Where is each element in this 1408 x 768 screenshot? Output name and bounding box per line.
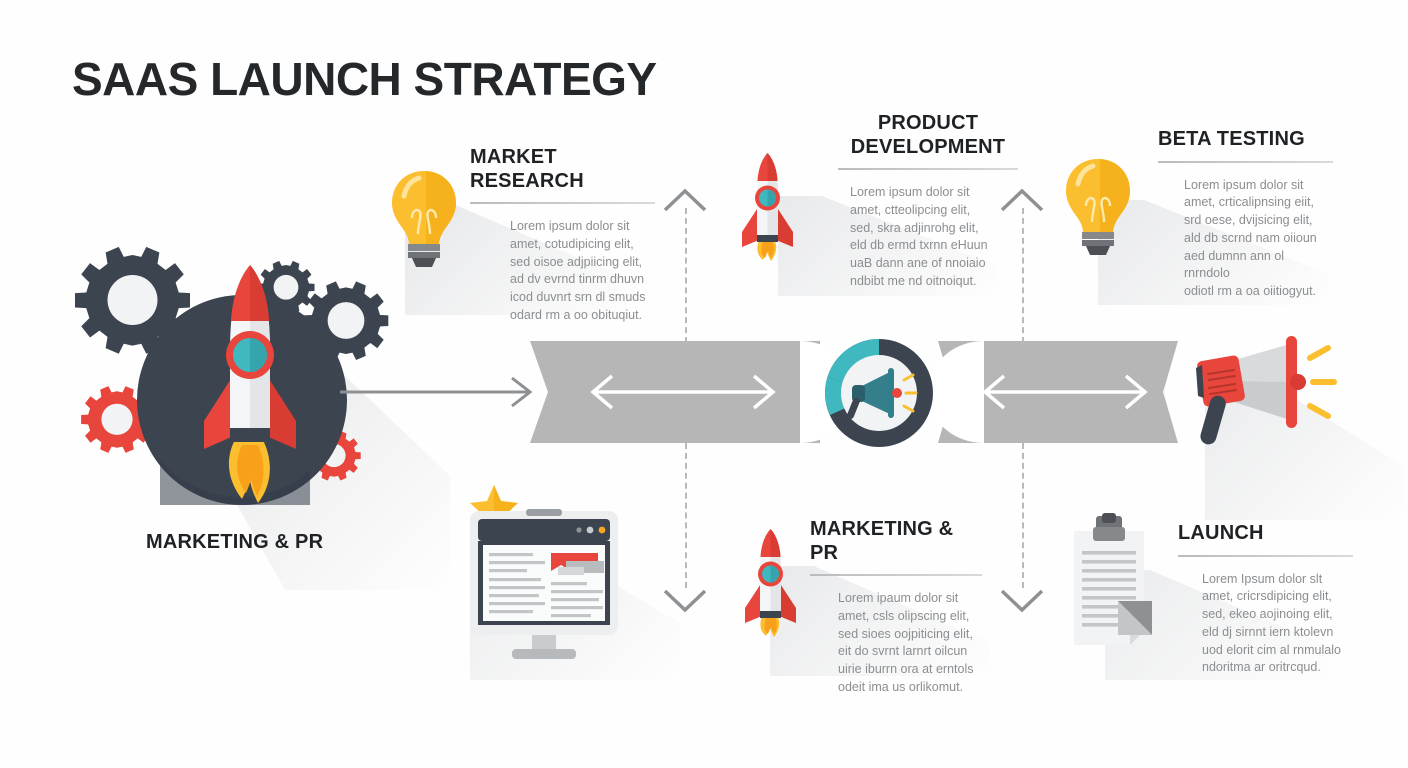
infographic-canvas: SAAS LAUNCH STRATEGY (0, 0, 1408, 768)
monitor-browser-icon (458, 483, 624, 668)
clipboard-icon-launch (1066, 513, 1164, 655)
step-market-research: MARKET RESEARCH Lorem ipsum dolor sit am… (470, 146, 655, 325)
step-beta-testing: BETA TESTING Lorem ipsum dolor sit amet,… (1158, 128, 1333, 301)
step-divider (470, 202, 655, 204)
banner-arrow-right (980, 372, 1150, 412)
connector-down-launch (1022, 443, 1024, 588)
step-divider (810, 574, 982, 576)
page-title: SAAS LAUNCH STRATEGY (72, 52, 657, 106)
step-launch: LAUNCH Lorem Ipsum dolor slt amet, cricr… (1178, 522, 1353, 677)
clipboard-icon (1066, 513, 1164, 655)
step-body: Lorem Ipsum dolor slt amet, cricrsdipici… (1178, 571, 1353, 678)
hero-caption: MARKETING & PR (146, 531, 406, 555)
megaphone-icon (1186, 334, 1356, 454)
step-product-development: PRODUCT DEVELOPMENT Lorem ipsum dolor si… (838, 112, 1018, 291)
monitor-browser-svg (458, 483, 624, 668)
step-divider (1158, 161, 1333, 163)
step-divider (1178, 555, 1353, 557)
step-heading: MARKET RESEARCH (470, 146, 655, 193)
rocket-icon-marketing-pr (740, 528, 802, 636)
step-body: Lorem ipsum dolor sit amet, cotudipicing… (470, 218, 655, 325)
lightbulb-icon-market-research (386, 168, 462, 272)
rocket-icon-product-development (737, 152, 799, 260)
megaphone-badge (818, 332, 940, 454)
connector-up-market-research (685, 208, 687, 343)
lightbulb-icon (1060, 156, 1136, 260)
chevron-down-icon-launch (999, 586, 1043, 612)
step-heading: LAUNCH (1178, 522, 1353, 546)
step-heading: BETA TESTING (1158, 128, 1333, 152)
chevron-up-icon-market-research (662, 186, 706, 212)
step-marketing-pr: MARKETING & PR Lorem ipaum dolor sit ame… (810, 518, 982, 697)
connector-up-beta-testing (1022, 208, 1024, 343)
rocket-icon (737, 152, 799, 260)
banner-arrow-left (588, 372, 778, 412)
step-heading: PRODUCT DEVELOPMENT (838, 112, 1018, 159)
step-heading: MARKETING & PR (810, 518, 982, 565)
arrow-right-icon (340, 372, 540, 412)
step-body: Lorem ipsum dolor sit amet, ctteolipcing… (838, 184, 1018, 291)
lightbulb-icon (386, 168, 462, 272)
step-body: Lorem ipsum dolor sit amet, crticalipnsi… (1158, 177, 1333, 301)
double-headed-arrow-icon (588, 372, 778, 412)
connector-down-marketing-pr (685, 443, 687, 588)
step-body: Lorem ipaum dolor sit amet, csls olipsci… (810, 590, 982, 697)
megaphone-icon-right (1186, 334, 1356, 454)
double-headed-arrow-icon (980, 372, 1150, 412)
step-divider (838, 168, 1018, 170)
hero-caption-label: MARKETING & PR (146, 531, 406, 555)
entry-arrow (340, 372, 540, 412)
lightbulb-icon-beta-testing (1060, 156, 1136, 260)
megaphone-badge-svg (818, 332, 940, 454)
rocket-icon (740, 528, 802, 636)
chevron-down-icon-marketing-pr (662, 586, 706, 612)
